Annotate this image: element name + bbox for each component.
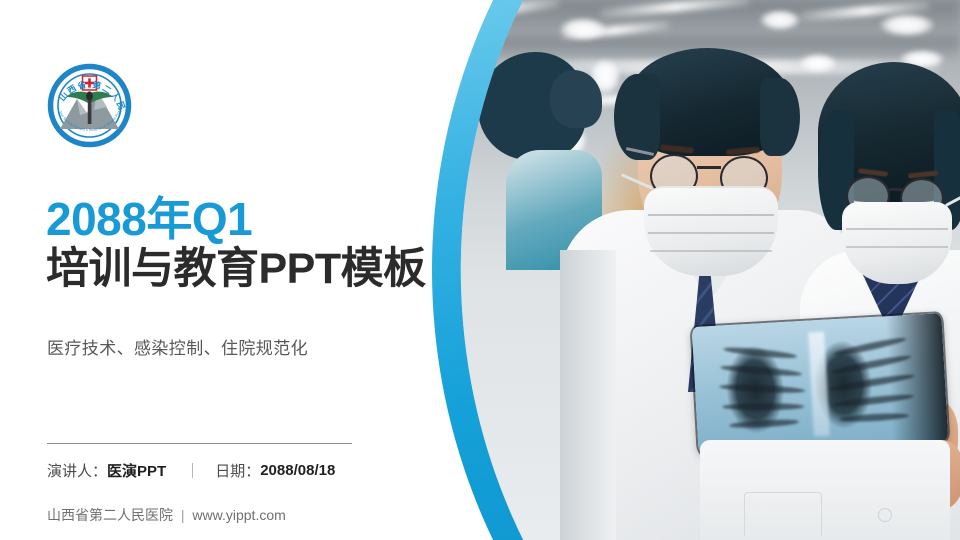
senior-doctor-glasses-bridge bbox=[697, 166, 721, 169]
page-title: 2088年Q1 培训与教育PPT模板 bbox=[46, 196, 516, 292]
coat-pocket bbox=[744, 492, 822, 536]
mask-pleat bbox=[846, 228, 948, 230]
footer-separator: | bbox=[181, 507, 185, 523]
subtitle: 医疗技术、感染控制、住院规范化 bbox=[47, 334, 308, 359]
date-value: 2088/08/18 bbox=[260, 462, 335, 479]
xray-rib bbox=[722, 403, 804, 410]
senior-doctor-coat-shadow bbox=[560, 250, 616, 540]
footer-website: www.yippt.com bbox=[192, 507, 285, 523]
xray-rib bbox=[729, 418, 799, 429]
text-column: 山西省 第二人民 医院 The Second People's Hospital… bbox=[0, 0, 430, 540]
coat-button bbox=[878, 508, 892, 522]
meta-row: 演讲人： 医演PPT 日期： 2088/08/18 bbox=[47, 460, 335, 481]
title-main-line: 培训与教育PPT模板 bbox=[46, 247, 516, 292]
junior-doctor-glasses-bridge bbox=[889, 188, 902, 191]
senior-doctor-hair-side bbox=[614, 74, 660, 160]
presenter-value: 医演PPT bbox=[107, 460, 166, 481]
hospital-logo: 山西省 第二人民 医院 The Second People's Hospital… bbox=[47, 63, 132, 148]
mask-pleat bbox=[648, 214, 774, 216]
ceiling-lamp bbox=[760, 10, 800, 30]
ceiling-lamp bbox=[560, 18, 606, 40]
xray-rib bbox=[719, 383, 805, 394]
date-label: 日期： bbox=[215, 460, 260, 481]
title-year-line: 2088年Q1 bbox=[46, 196, 516, 243]
xray-spine bbox=[808, 332, 830, 437]
footer: 山西省第二人民医院 | www.yippt.com bbox=[47, 505, 286, 525]
mask-pleat bbox=[650, 250, 772, 252]
ceiling-lamp bbox=[880, 14, 934, 36]
title-slide: 山西省 第二人民 医院 The Second People's Hospital… bbox=[0, 0, 960, 540]
footer-organization: 山西省第二人民医院 bbox=[47, 507, 173, 523]
divider bbox=[47, 443, 352, 444]
senior-doctor-mask bbox=[644, 186, 778, 276]
mask-pleat bbox=[846, 246, 948, 248]
xray-dark-edge bbox=[885, 313, 948, 444]
senior-doctor-hair-side bbox=[760, 78, 800, 156]
ceiling-lamp bbox=[800, 54, 836, 72]
chest-xray-film bbox=[692, 313, 949, 455]
xray-rib bbox=[720, 364, 802, 378]
mask-pleat bbox=[648, 232, 774, 234]
xray-rib bbox=[723, 346, 797, 360]
presenter-label: 演讲人： bbox=[47, 460, 107, 481]
meta-separator bbox=[192, 463, 193, 478]
coat-lower-front bbox=[700, 440, 950, 540]
